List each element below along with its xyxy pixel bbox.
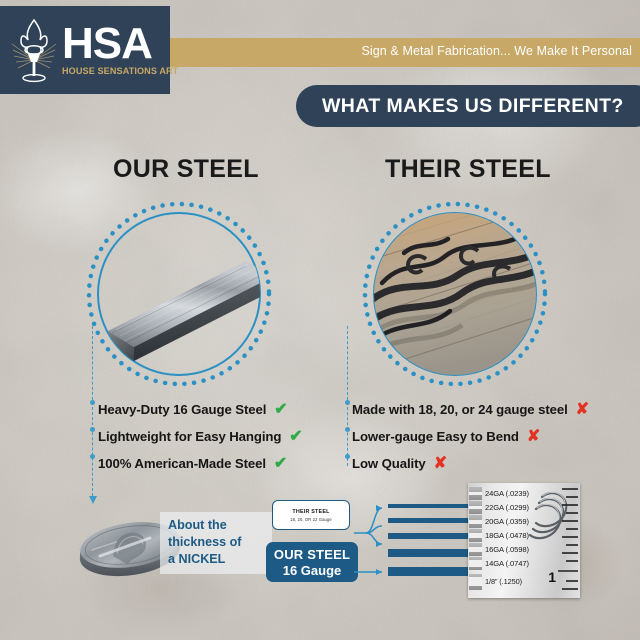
list-item-label: Lightweight for Easy Hanging [98,429,281,444]
logo-subtitle: HOUSE SENSATIONS ART [62,66,178,77]
badge-bracket-connector [352,498,392,584]
bullet-dot [90,454,95,459]
gauge-slot [469,543,482,556]
cross-icon: ✘ [576,402,589,418]
check-icon: ✔ [274,456,287,472]
bullet-dot [90,427,95,432]
nickel-caption-line-2: thickness of [168,534,266,551]
bar-16ga [388,567,473,576]
arrow-down-icon [89,496,97,504]
our-steel-badge: OUR STEEL 16 Gauge [266,542,358,582]
ruler-row-label: 24GA (.0239) [485,489,529,498]
their-steel-heading: THEIR STEEL [385,155,551,184]
torch-flame-icon [8,14,60,86]
ruler-inch-number: 1 [548,569,556,585]
list-item-label: Heavy-Duty 16 Gauge Steel [98,402,266,417]
gauge-slot [469,557,482,570]
list-item: Lightweight for Easy Hanging ✔ [98,423,303,450]
their-steel-connector-line [347,326,348,466]
bullet-dot [345,400,350,405]
bar-18ga [388,549,473,557]
brand-logo[interactable]: HSA HOUSE SENSATIONS ART [0,6,170,94]
ruler-row: 22GA (.0299) [468,501,529,514]
gauge-slot [469,574,482,590]
logo-initials: HSA [62,23,184,65]
our-steel-feature-list: Heavy-Duty 16 Gauge Steel ✔ Lightweight … [98,396,303,477]
title-banner: WHAT MAKES US DIFFERENT? [296,85,640,127]
bullet-dot [345,454,350,459]
list-item: Made with 18, 20, or 24 gauge steel ✘ [352,396,589,423]
bullet-dot [345,427,350,432]
list-item-label: 100% American-Made Steel [98,456,266,471]
list-item: 100% American-Made Steel ✔ [98,450,303,477]
their-steel-badge: THEIR STEEL 18, 20, OR 22 Gauge [272,500,350,530]
ruler-row: 18GA (.0478) [468,529,529,542]
gauge-slot [469,515,482,528]
list-item: Low Quality ✘ [352,450,589,477]
list-item: Heavy-Duty 16 Gauge Steel ✔ [98,396,303,423]
bar-24ga [388,504,473,508]
cross-icon: ✘ [434,456,447,472]
gauge-thickness-bar-chart [388,500,473,582]
ruler-row: 16GA (.0598) [468,543,529,556]
gauge-slot [469,529,482,542]
ruler-row-label: 16GA (.0598) [485,545,529,554]
bar-22ga [388,518,473,523]
ruler-row-label: 14GA (.0747) [485,559,529,568]
ruler-row-label: 18GA (.0478) [485,531,529,540]
ruler-row: 14GA (.0747) [468,557,529,570]
bent-metal-sign-photo [374,213,536,375]
gauge-slot [469,487,482,500]
steel-flat-bar-image [98,213,260,375]
ruler-row-label: 22GA (.0299) [485,503,529,512]
infographic-canvas: Sign & Metal Fabrication... We Make It P… [0,0,640,640]
list-item-label: Lower-gauge Easy to Bend [352,429,519,444]
gauge-slot [469,501,482,514]
their-steel-badge-title: THEIR STEEL [292,509,329,515]
bullet-dot [90,400,95,405]
steel-gauge-ruler-image: 24GA (.0239) 22GA (.0299) 20GA (.0359) 1… [468,483,580,598]
nickel-caption-line-1: About the [168,517,266,534]
tagline-text: Sign & Metal Fabrication... We Make It P… [361,44,632,58]
list-item-label: Made with 18, 20, or 24 gauge steel [352,402,568,417]
ruler-tick-marks [556,487,578,595]
their-steel-badge-subtitle: 18, 20, OR 22 Gauge [290,517,332,522]
list-item: Lower-gauge Easy to Bend ✘ [352,423,589,450]
check-icon: ✔ [274,402,287,418]
our-steel-badge-title: OUR STEEL [274,547,350,562]
ruler-row-label: 20GA (.0359) [485,517,529,526]
ruler-row-label: 1/8” (.1250) [485,577,522,586]
nickel-caption-line-3: a NICKEL [168,551,266,568]
cross-icon: ✘ [527,429,540,445]
our-steel-heading: OUR STEEL [113,155,259,184]
nickel-caption: About the thickness of a NICKEL [160,512,272,574]
their-steel-circle [359,198,551,390]
bar-20ga [388,533,473,539]
ruler-row: 20GA (.0359) [468,515,529,528]
our-steel-circle [83,198,275,390]
our-steel-connector-line [92,326,93,496]
their-steel-feature-list: Made with 18, 20, or 24 gauge steel ✘ Lo… [352,396,589,477]
page-title: WHAT MAKES US DIFFERENT? [322,95,624,118]
check-icon: ✔ [289,429,302,445]
ruler-row: 1/8” (.1250) [468,575,522,588]
list-item-label: Low Quality [352,456,426,471]
ruler-row: 24GA (.0239) [468,487,529,500]
our-steel-badge-subtitle: 16 Gauge [283,563,342,578]
